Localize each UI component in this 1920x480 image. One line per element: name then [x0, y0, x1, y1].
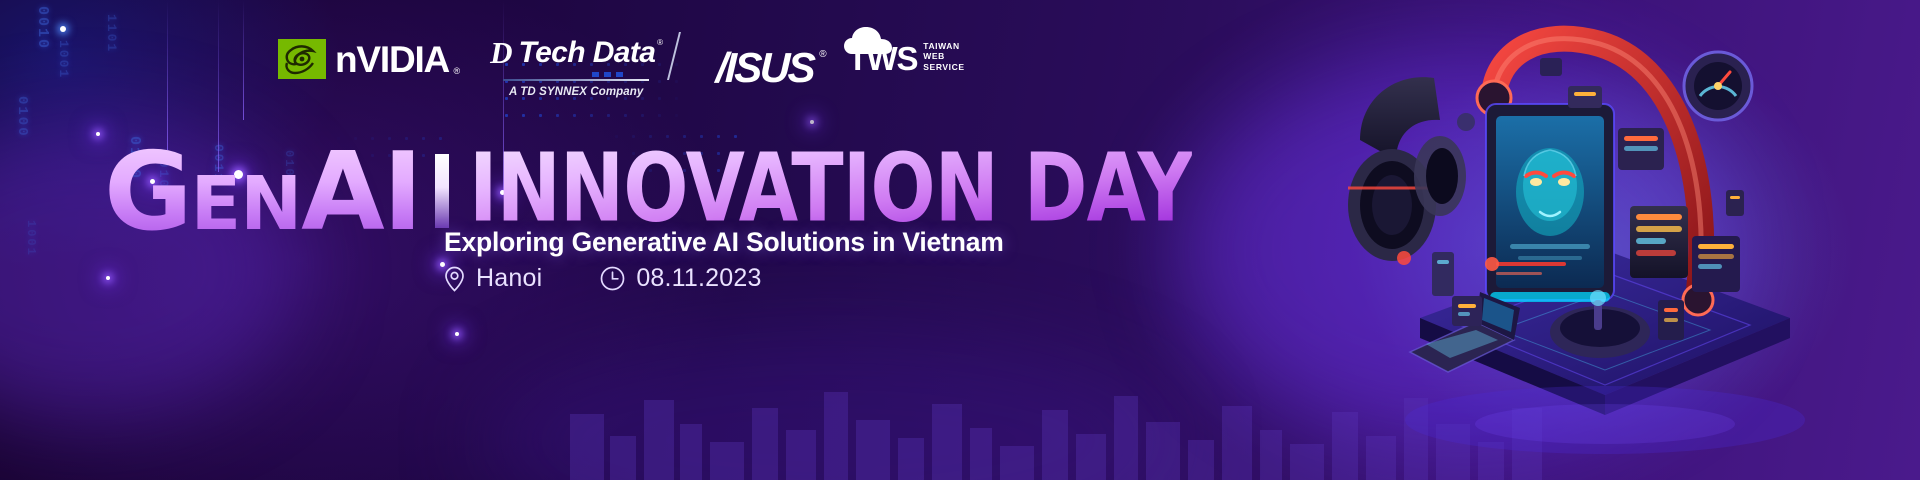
genai-letters-en: EN: [191, 170, 301, 238]
binary-column: 1001: [24, 220, 38, 257]
genai-brand: G EN AI: [104, 143, 421, 242]
headline-divider: [435, 154, 449, 228]
genai-letters-ai: AI: [301, 143, 421, 242]
registered-trademark-icon: ®: [819, 49, 826, 60]
binary-column: 1001: [56, 40, 71, 79]
tws-subtitle-line: TAIWAN: [923, 41, 964, 51]
glow-dot: [106, 276, 110, 280]
techdata-wordmark-text: Tech Data: [518, 36, 655, 69]
techdata-monogram: D: [490, 37, 511, 68]
techdata-dots-accent: [592, 72, 623, 77]
tws-subtitle-line: SERVICE: [923, 62, 964, 72]
wire-line: [167, 0, 168, 150]
techdata-subtitle: A TD SYNNEX Company: [509, 86, 643, 98]
event-meta-row: Hanoi 08.11.2023: [444, 264, 762, 293]
event-banner: 0010 1001 0100 1101 0110 1010 0011 0100 …: [0, 0, 1920, 480]
event-subtitle: Exploring Generative AI Solutions in Vie…: [444, 227, 1004, 258]
glow-dot: [455, 332, 459, 336]
asus-wordmark: /ISUS: [716, 47, 815, 89]
meta-location-label: Hanoi: [476, 264, 542, 293]
tws-subtitle: TAIWAN WEB SERVICE: [923, 41, 964, 75]
wire-line: [243, 0, 244, 120]
meta-location: Hanoi: [444, 264, 542, 293]
registered-trademark-icon: ®: [453, 67, 460, 76]
tws-subtitle-line: WEB: [923, 51, 964, 61]
logo-asus[interactable]: /ISUS ®: [716, 47, 813, 89]
binary-column: 0100: [14, 96, 30, 138]
headline-title: INNOVATION DAY: [469, 142, 1192, 236]
glow-dot: [60, 26, 66, 32]
nvidia-wordmark: nVIDIA ®: [335, 41, 460, 78]
logo-tws[interactable]: TWS TAIWAN WEB SERVICE: [848, 41, 965, 75]
glow-dot: [810, 120, 814, 124]
tws-wordmark: TWS: [848, 42, 918, 75]
glow-dot: [96, 132, 100, 136]
clock-icon: [600, 266, 625, 291]
techdata-underline: [503, 79, 649, 81]
isometric-ai-tech-city-illustration: [1300, 0, 1920, 480]
registered-trademark-icon: ®: [657, 39, 662, 47]
partner-logo-row: nVIDIA ® D Tech Data ® A TD SYNNEX Compa…: [278, 33, 965, 93]
logo-techdata[interactable]: D Tech Data ® A TD SYNNEX Company: [490, 37, 662, 98]
location-pin-icon: [444, 266, 465, 292]
techdata-slash-mark: [667, 32, 681, 80]
binary-column: 0010: [34, 6, 51, 50]
nvidia-eye-icon: [278, 39, 326, 79]
logo-nvidia[interactable]: nVIDIA ®: [278, 39, 460, 79]
meta-date: 08.11.2023: [600, 264, 761, 293]
binary-column: 1101: [104, 14, 119, 53]
gauge-dial: [1684, 52, 1752, 120]
genai-letter-g: G: [104, 143, 191, 242]
techdata-wordmark: Tech Data ®: [518, 38, 662, 68]
meta-date-label: 08.11.2023: [636, 264, 761, 293]
nvidia-wordmark-text: nVIDIA: [335, 39, 449, 80]
